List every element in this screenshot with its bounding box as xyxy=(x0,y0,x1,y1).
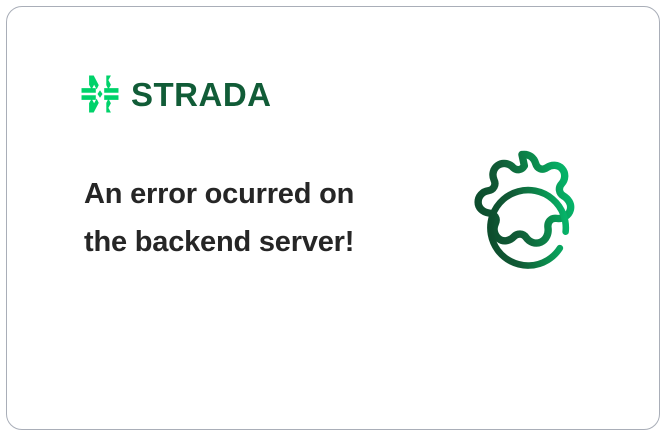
error-message: An error ocurred on the backend server! xyxy=(84,170,384,266)
error-page: STRADA An error ocurred on the backend s… xyxy=(0,0,666,436)
gear-cog-icon xyxy=(450,144,614,308)
error-card: STRADA An error ocurred on the backend s… xyxy=(6,6,660,430)
brand-wordmark: STRADA xyxy=(131,78,272,111)
brand-lockup: STRADA xyxy=(79,73,272,115)
strada-starburst-icon xyxy=(79,73,121,115)
